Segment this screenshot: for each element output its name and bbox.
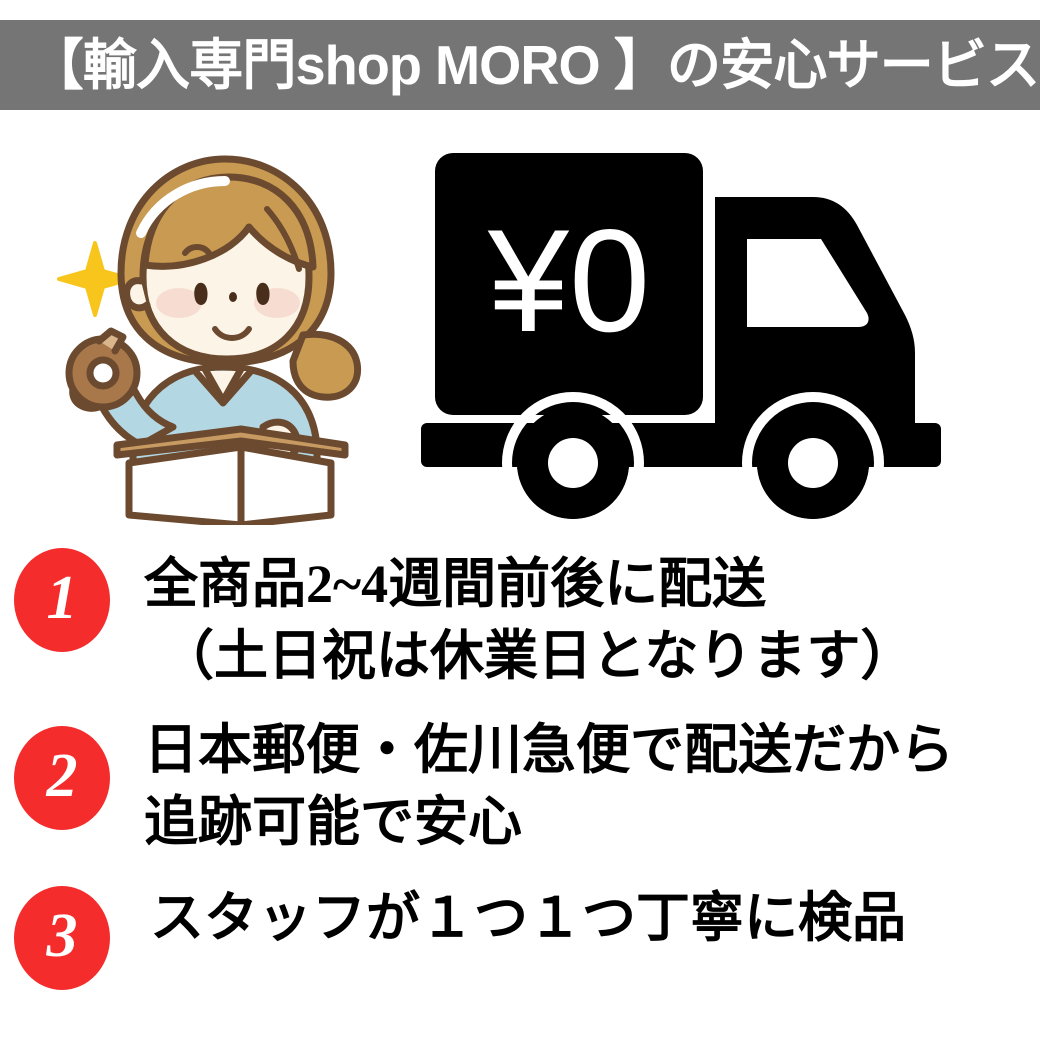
truck-cargo-label: ¥0 [487, 199, 650, 362]
service-line: 全商品2~4週間前後に配送 [144, 548, 1040, 620]
free-shipping-truck-icon: ¥0 [415, 135, 1025, 525]
badge-2: 2 [14, 726, 110, 830]
service-text-3: スタッフが１つ１つ丁寧に検品 [110, 882, 1040, 954]
promo-banner-page: 【輸入専門shop MORO 】の安心サービス [0, 0, 1040, 1040]
service-text-1: 全商品2~4週間前後に配送 （土日祝は休業日となります） [110, 548, 1040, 692]
service-item-1: 1 全商品2~4週間前後に配送 （土日祝は休業日となります） [0, 548, 1040, 692]
service-item-3: 3 スタッフが１つ１つ丁寧に検品 [0, 882, 1040, 990]
service-line: 日本郵便・佐川急便で配送だから [144, 714, 1040, 786]
badge-number: 2 [14, 726, 110, 830]
badge-number: 3 [14, 886, 110, 990]
illustration-row: ¥0 [0, 120, 1040, 540]
service-line: （土日祝は休業日となります） [160, 620, 1040, 692]
service-line: スタッフが１つ１つ丁寧に検品 [150, 882, 1040, 954]
service-line: 追跡可能で安心 [144, 786, 1040, 858]
badge-1: 1 [14, 548, 110, 652]
service-text-2: 日本郵便・佐川急便で配送だから 追跡可能で安心 [110, 714, 1040, 858]
service-item-2: 2 日本郵便・佐川急便で配送だから 追跡可能で安心 [0, 714, 1040, 858]
badge-number: 1 [14, 548, 110, 652]
badge-3: 3 [14, 886, 110, 990]
page-title: 【輸入専門shop MORO 】の安心サービス [0, 20, 1039, 110]
header-band: 【輸入専門shop MORO 】の安心サービス [0, 20, 1040, 110]
woman-packing-box-illustration [45, 145, 405, 525]
service-list: 1 全商品2~4週間前後に配送 （土日祝は休業日となります） 2 日本郵便・佐川… [0, 548, 1040, 990]
